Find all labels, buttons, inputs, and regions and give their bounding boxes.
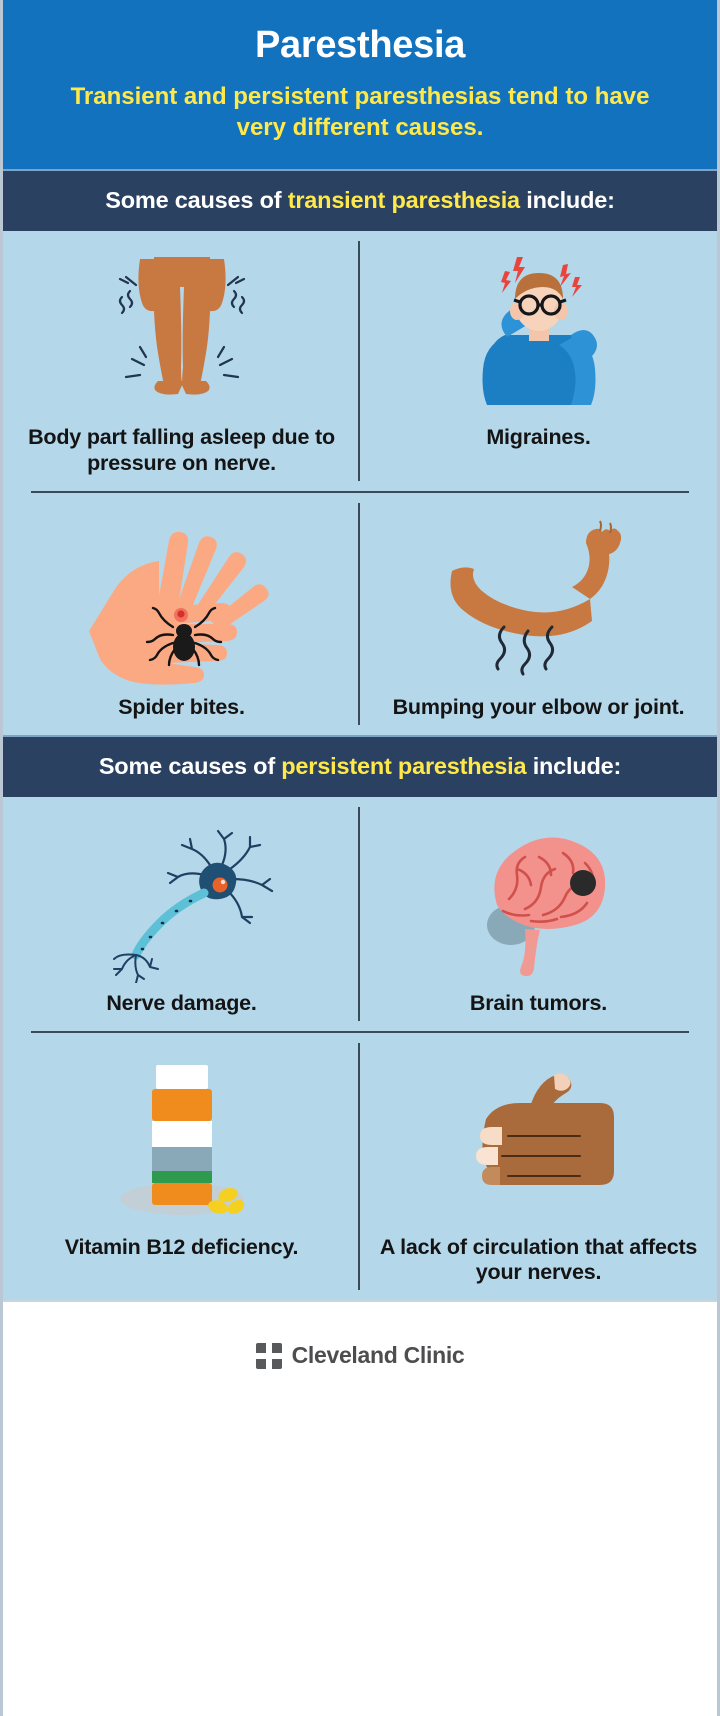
card-body-falling-asleep: Body part falling asleep due to pressure… xyxy=(3,231,360,491)
infographic-root: Paresthesia Transient and persistent par… xyxy=(0,0,720,1716)
bent-arm-elbow-icon xyxy=(434,509,644,687)
card-migraines: Migraines. xyxy=(360,231,717,491)
hand-spider-bite-icon xyxy=(77,509,287,687)
section-transient: Body part falling asleep due to pressure… xyxy=(3,231,717,734)
page-subtitle: Transient and persistent paresthesias te… xyxy=(33,82,687,143)
banner-highlight-1: transient paresthesia xyxy=(288,187,520,213)
transient-row-2: Spider bites. xyxy=(3,493,717,735)
card-caption: Bumping your elbow or joint. xyxy=(393,695,685,721)
card-caption: Brain tumors. xyxy=(470,991,607,1017)
card-lack-of-circulation: A lack of circulation that affects your … xyxy=(360,1033,717,1301)
banner-highlight-2: persistent paresthesia xyxy=(281,753,526,779)
card-caption: Spider bites. xyxy=(118,695,244,721)
person-migraine-icon xyxy=(439,247,639,417)
banner-suffix-1: include: xyxy=(520,187,615,213)
hand-circulation-icon xyxy=(434,1049,644,1227)
card-caption: Nerve damage. xyxy=(106,991,256,1017)
footer: Cleveland Clinic xyxy=(3,1300,717,1716)
section-banner-persistent: Some causes of persistent paresthesia in… xyxy=(3,735,717,797)
card-vitamin-b12: Vitamin B12 deficiency. xyxy=(3,1033,360,1301)
section-banner-transient: Some causes of transient paresthesia inc… xyxy=(3,169,717,231)
banner-prefix-2: Some causes of xyxy=(99,753,281,779)
brand-name: Cleveland Clinic xyxy=(292,1342,465,1369)
brand-lockup: Cleveland Clinic xyxy=(256,1342,465,1369)
card-bumping-elbow: Bumping your elbow or joint. xyxy=(360,493,717,735)
cleveland-clinic-logo-icon xyxy=(256,1343,282,1369)
card-caption: A lack of circulation that affects your … xyxy=(374,1235,703,1287)
card-caption: Body part falling asleep due to pressure… xyxy=(17,425,346,477)
card-caption: Vitamin B12 deficiency. xyxy=(65,1235,299,1261)
banner-prefix-1: Some causes of xyxy=(105,187,287,213)
brain-tumor-icon xyxy=(439,813,639,983)
page-title: Paresthesia xyxy=(33,26,687,66)
card-brain-tumors: Brain tumors. xyxy=(360,797,717,1031)
legs-tingling-icon xyxy=(82,247,282,417)
card-nerve-damage: Nerve damage. xyxy=(3,797,360,1031)
card-spider-bites: Spider bites. xyxy=(3,493,360,735)
section-persistent: Nerve damage. xyxy=(3,797,717,1300)
persistent-row-1: Nerve damage. xyxy=(3,797,717,1031)
banner-suffix-2: include: xyxy=(526,753,621,779)
transient-row-1: Body part falling asleep due to pressure… xyxy=(3,231,717,491)
neuron-icon xyxy=(82,813,282,983)
pill-bottle-icon xyxy=(82,1049,282,1227)
persistent-row-2: Vitamin B12 deficiency. xyxy=(3,1033,717,1301)
header: Paresthesia Transient and persistent par… xyxy=(3,0,717,169)
card-caption: Migraines. xyxy=(486,425,590,451)
